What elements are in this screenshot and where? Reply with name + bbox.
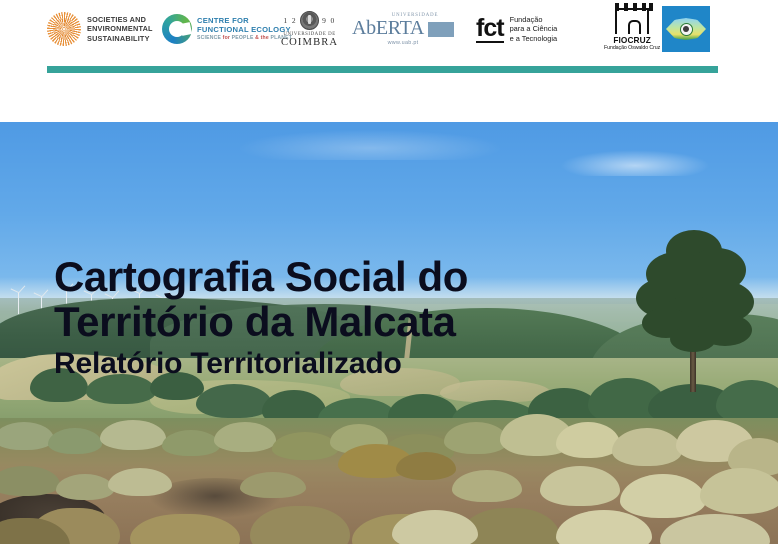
uc-year-right: 9 0: [322, 16, 336, 25]
cover-page: SOCIETIES AND ENVIRONMENTAL SUSTAINABILI…: [0, 0, 778, 544]
logo-universidade-aberta: UNIVERSIDADE AbERTA www.uab.pt: [352, 0, 454, 58]
cloud-wisp-right: [560, 150, 710, 176]
scrub-bush: [100, 420, 166, 450]
cover-title-line-2: Território da Malcata: [54, 299, 674, 344]
cfe-tagline-for: for: [223, 35, 230, 41]
uab-chip-icon: [428, 22, 454, 37]
ses-line-2: ENVIRONMENTAL: [87, 24, 153, 33]
scrub-bush-golden: [396, 452, 456, 480]
pine-canopy-mass: [670, 326, 716, 352]
cfe-line-2: FUNCTIONAL ECOLOGY: [197, 25, 292, 34]
fct-line-1: Fundação: [510, 15, 572, 25]
scrub-bush: [48, 428, 102, 454]
logo-fct: fct Fundação para a Ciência e a Tecnolog…: [476, 0, 572, 58]
uc-crest-row: 1 2 9 0: [284, 11, 336, 30]
eye-pupil-shape: [680, 23, 693, 36]
cfe-tagline-pre: SCIENCE: [197, 35, 223, 41]
ses-line-3: SUSTAINABILITY: [87, 34, 153, 43]
scrub-bush: [240, 472, 306, 498]
header-divider-rule: [47, 66, 718, 73]
logo-universidade-de-coimbra: 1 2 9 0 UNIVERSIDADE DE COIMBRA: [281, 0, 338, 58]
fct-line-3: e a Tecnologia: [510, 34, 572, 44]
scrub-bush: [452, 470, 522, 502]
logo-blue-eye-landscape: [662, 0, 710, 58]
scrub-bush: [108, 468, 172, 496]
fct-wordmark: fct: [476, 16, 504, 43]
scrub-bush: [56, 474, 114, 500]
uab-wordmark-row: AbERTA: [352, 18, 454, 39]
cfe-wordmark: CENTRE FOR FUNCTIONAL ECOLOGY SCIENCE fo…: [197, 16, 292, 43]
uc-year-left: 1 2: [284, 16, 298, 25]
cfe-tagline-people: PEOPLE: [230, 35, 255, 41]
tree-clump: [196, 384, 272, 418]
ses-line-1: SOCIETIES AND: [87, 15, 153, 24]
cfe-ring-icon: [162, 14, 192, 44]
ses-wordmark: SOCIETIES AND ENVIRONMENTAL SUSTAINABILI…: [87, 15, 153, 43]
logo-fiocruz: FIOCRUZ Fundação Oswaldo Cruz: [604, 0, 660, 58]
partner-logo-strip: SOCIETIES AND ENVIRONMENTAL SUSTAINABILI…: [0, 0, 778, 58]
uc-seal-icon: [300, 11, 319, 30]
fiocruz-wordmark: FIOCRUZ: [613, 35, 651, 45]
uab-url: www.uab.pt: [388, 40, 419, 46]
scrub-bush: [444, 422, 508, 454]
cfe-tagline-andthe: & the: [255, 35, 269, 41]
scrub-bush: [272, 432, 338, 460]
uab-wordmark: AbERTA: [352, 18, 424, 39]
ses-sunburst-icon: [47, 12, 81, 46]
cfe-line-1: CENTRE FOR: [197, 16, 292, 25]
fct-line-2: para a Ciência: [510, 24, 572, 34]
cfe-tagline: SCIENCE for PEOPLE & the PLANET: [197, 35, 292, 42]
cover-photograph: Cartografia Social do Território da Malc…: [0, 122, 778, 544]
cloud-wisp-left: [240, 130, 500, 160]
cover-title-block: Cartografia Social do Território da Malc…: [54, 254, 674, 384]
scrub-bush-pale: [556, 422, 620, 458]
fiocruz-castle-icon: [615, 8, 649, 34]
fct-fullname: Fundação para a Ciência e a Tecnologia: [510, 15, 572, 44]
scrub-bush: [162, 430, 220, 456]
eye-logo-icon: [662, 6, 710, 52]
logo-centre-for-functional-ecology: CENTRE FOR FUNCTIONAL ECOLOGY SCIENCE fo…: [162, 0, 292, 58]
logo-societies-and-environmental-sustainability: SOCIETIES AND ENVIRONMENTAL SUSTAINABILI…: [47, 0, 153, 58]
fiocruz-subtitle: Fundação Oswaldo Cruz: [604, 45, 660, 51]
cover-subtitle: Relatório Territorializado: [54, 344, 674, 384]
cover-title-line-1: Cartografia Social do: [54, 254, 674, 299]
uc-line-2: COIMBRA: [281, 37, 338, 48]
wind-turbine-icon: [18, 292, 19, 314]
scrub-bush: [214, 422, 276, 452]
